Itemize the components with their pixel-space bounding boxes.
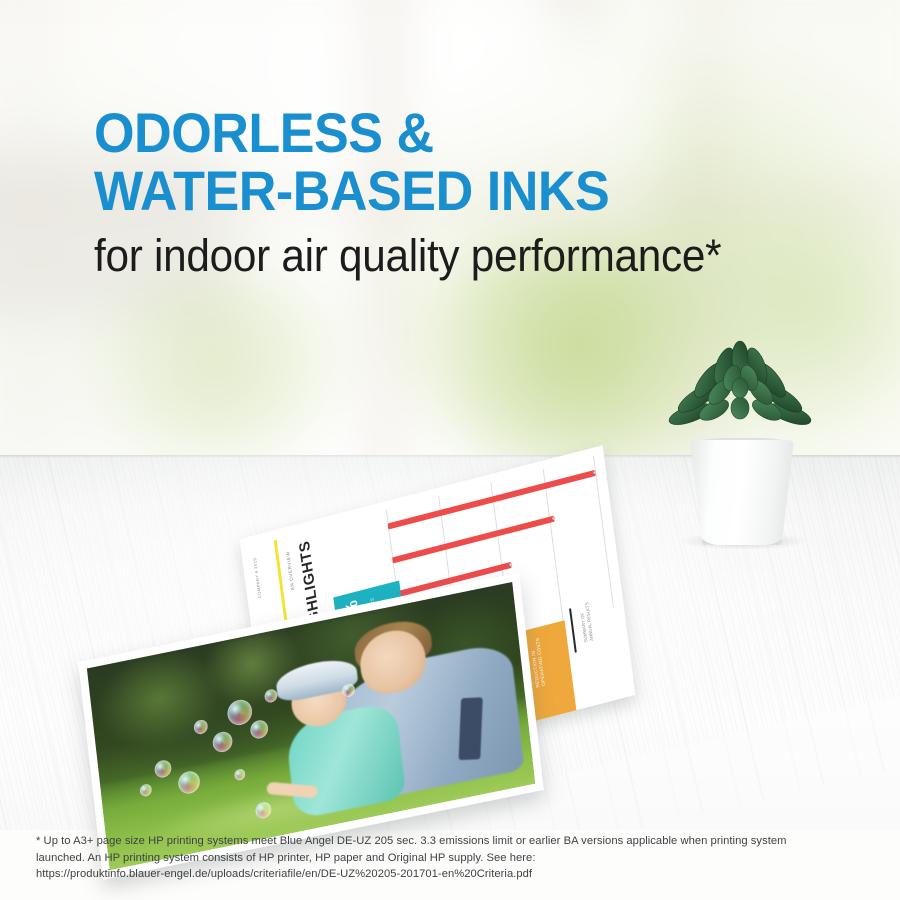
window-mullion [22, 0, 40, 462]
footnote-line-3: https://produktinfo.blauer-engel.de/uplo… [36, 866, 876, 883]
report-corner-label: COMPANY A 2019 [252, 557, 262, 599]
chart-bar [392, 516, 554, 564]
chart-endpoint-marker [552, 516, 555, 520]
footnote-line-2: launched. An HP printing system consists… [36, 850, 876, 867]
headline-line-2: WATER-BASED INKS [94, 162, 801, 220]
footnote-line-1: * Up to A3+ page size HP printing system… [36, 833, 876, 850]
headline-block: ODORLESS & WATER-BASED INKS for indoor a… [94, 104, 854, 286]
background-greenery [90, 270, 350, 460]
stat-description: REDUCTION IN OPERATING COSTS [529, 637, 547, 688]
chart-gridline [543, 469, 564, 621]
headline-line-1: ODORLESS & [94, 104, 801, 162]
subheadline: for indoor air quality performance* [94, 226, 808, 286]
promo-banner: ODORLESS & WATER-BASED INKS for indoor a… [0, 0, 900, 900]
chart-endpoint-marker [509, 563, 512, 567]
photo-woman-tie [458, 697, 482, 759]
potted-plant [668, 332, 813, 547]
report-eyebrow: AN OVERVIEW [285, 551, 295, 591]
footnote-disclaimer: * Up to A3+ page size HP printing system… [36, 833, 876, 883]
plant-pot [690, 440, 794, 545]
